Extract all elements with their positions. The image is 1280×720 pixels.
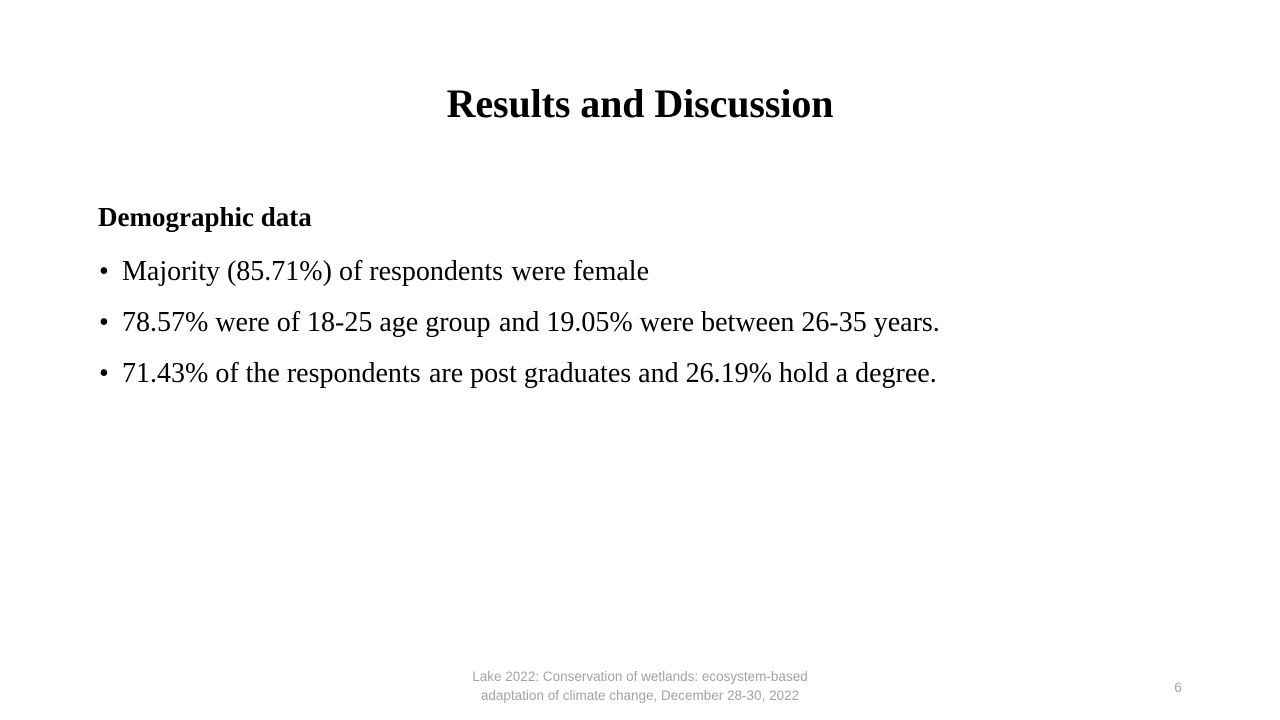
content-body: Demographic data •Majority (85.71%) of r… (98, 196, 1168, 399)
footer-line-2: adaptation of climate change, December 2… (0, 686, 1280, 705)
list-item-text-lead: 71.43% of the respondents (122, 358, 421, 389)
bullet-dot-icon: • (99, 297, 109, 348)
list-item: •71.43% of the respondentsare post gradu… (98, 348, 1168, 399)
list-item-text-lead: Majority (85.71%) of respondents (122, 256, 503, 287)
bullet-list: •Majority (85.71%) of respondentswere fe… (98, 246, 1168, 399)
bullet-dot-icon: • (99, 246, 109, 297)
list-item-text-tail: were female (511, 256, 649, 287)
bullet-dot-icon: • (99, 348, 109, 399)
slide-footer: Lake 2022: Conservation of wetlands: eco… (0, 667, 1280, 705)
slide-canvas: Results and Discussion Demographic data … (0, 0, 1280, 720)
page-number: 6 (1150, 678, 1206, 697)
subheading-demographic-data: Demographic data (98, 196, 1168, 238)
list-item-text-lead: 78.57% were of 18-25 age group (122, 307, 491, 338)
footer-line-1: Lake 2022: Conservation of wetlands: eco… (0, 667, 1280, 686)
page-title: Results and Discussion (0, 78, 1280, 130)
list-item-text-tail: are post graduates and 26.19% hold a deg… (429, 358, 937, 389)
list-item: •78.57% were of 18-25 age groupand 19.05… (98, 297, 1168, 348)
list-item-text-tail: and 19.05% were between 26-35 years. (499, 307, 940, 338)
list-item: •Majority (85.71%) of respondentswere fe… (98, 246, 1168, 297)
